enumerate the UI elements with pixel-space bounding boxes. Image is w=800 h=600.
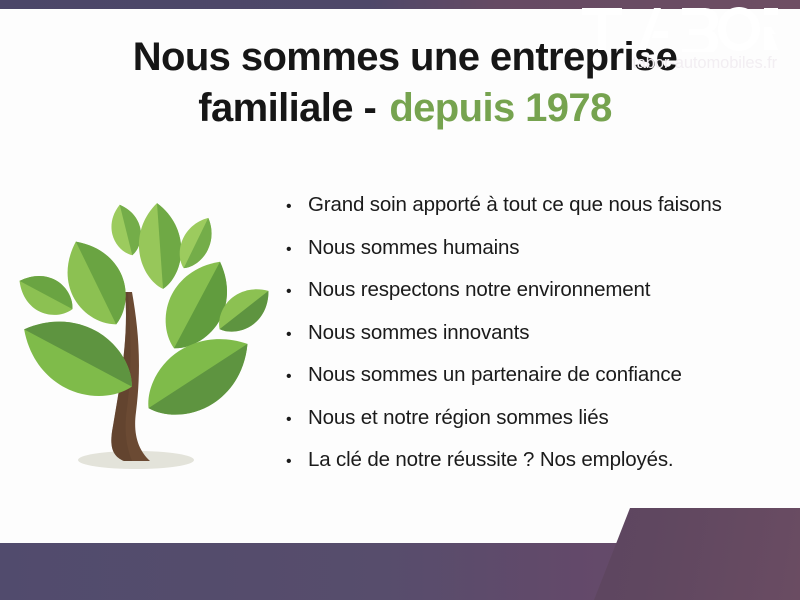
- brand-logo: tabor-automobiles.fr: [582, 6, 778, 73]
- list-item-label: Nous respectons notre environnement: [308, 278, 650, 302]
- title-accent: depuis 1978: [389, 86, 611, 130]
- bullet-dot-icon: •: [286, 454, 308, 470]
- list-item: • Nous sommes humains: [286, 236, 786, 279]
- bullet-list: • Grand soin apporté à tout ce que nous …: [286, 193, 786, 491]
- bullet-dot-icon: •: [286, 412, 308, 428]
- list-item: • Nous sommes un partenaire de confiance: [286, 363, 786, 406]
- bullet-dot-icon: •: [286, 199, 308, 215]
- tabor-wordmark-icon: [582, 6, 778, 52]
- title-dash: -: [363, 86, 378, 130]
- list-item: • Grand soin apporté à tout ce que nous …: [286, 193, 786, 236]
- list-item-label: Nous sommes un partenaire de confiance: [308, 363, 682, 387]
- list-item: • Nous et notre région sommes liés: [286, 406, 786, 449]
- list-item: • Nous respectons notre environnement: [286, 278, 786, 321]
- title-line-2-prefix: familiale: [198, 86, 353, 130]
- list-item-label: La clé de notre réussite ? Nos employés.: [308, 448, 673, 472]
- list-item-label: Nous sommes humains: [308, 236, 519, 260]
- bullet-dot-icon: •: [286, 369, 308, 385]
- logo-tagline: tabor-automobiles.fr: [582, 54, 778, 73]
- list-item-label: Nous et notre région sommes liés: [308, 406, 609, 430]
- list-item-label: Grand soin apporté à tout ce que nous fa…: [308, 193, 722, 217]
- bullet-dot-icon: •: [286, 327, 308, 343]
- list-item: • Nous sommes innovants: [286, 321, 786, 364]
- bullet-dot-icon: •: [286, 242, 308, 258]
- title-line-2: familiale - depuis 1978: [60, 83, 750, 134]
- list-item: • La clé de notre réussite ? Nos employé…: [286, 448, 786, 491]
- slide-canvas: Nous sommes une entreprise familiale - d…: [0, 0, 800, 600]
- bullet-dot-icon: •: [286, 284, 308, 300]
- list-item-label: Nous sommes innovants: [308, 321, 529, 345]
- tree-leaf: [136, 202, 184, 291]
- tree-illustration: [12, 188, 274, 488]
